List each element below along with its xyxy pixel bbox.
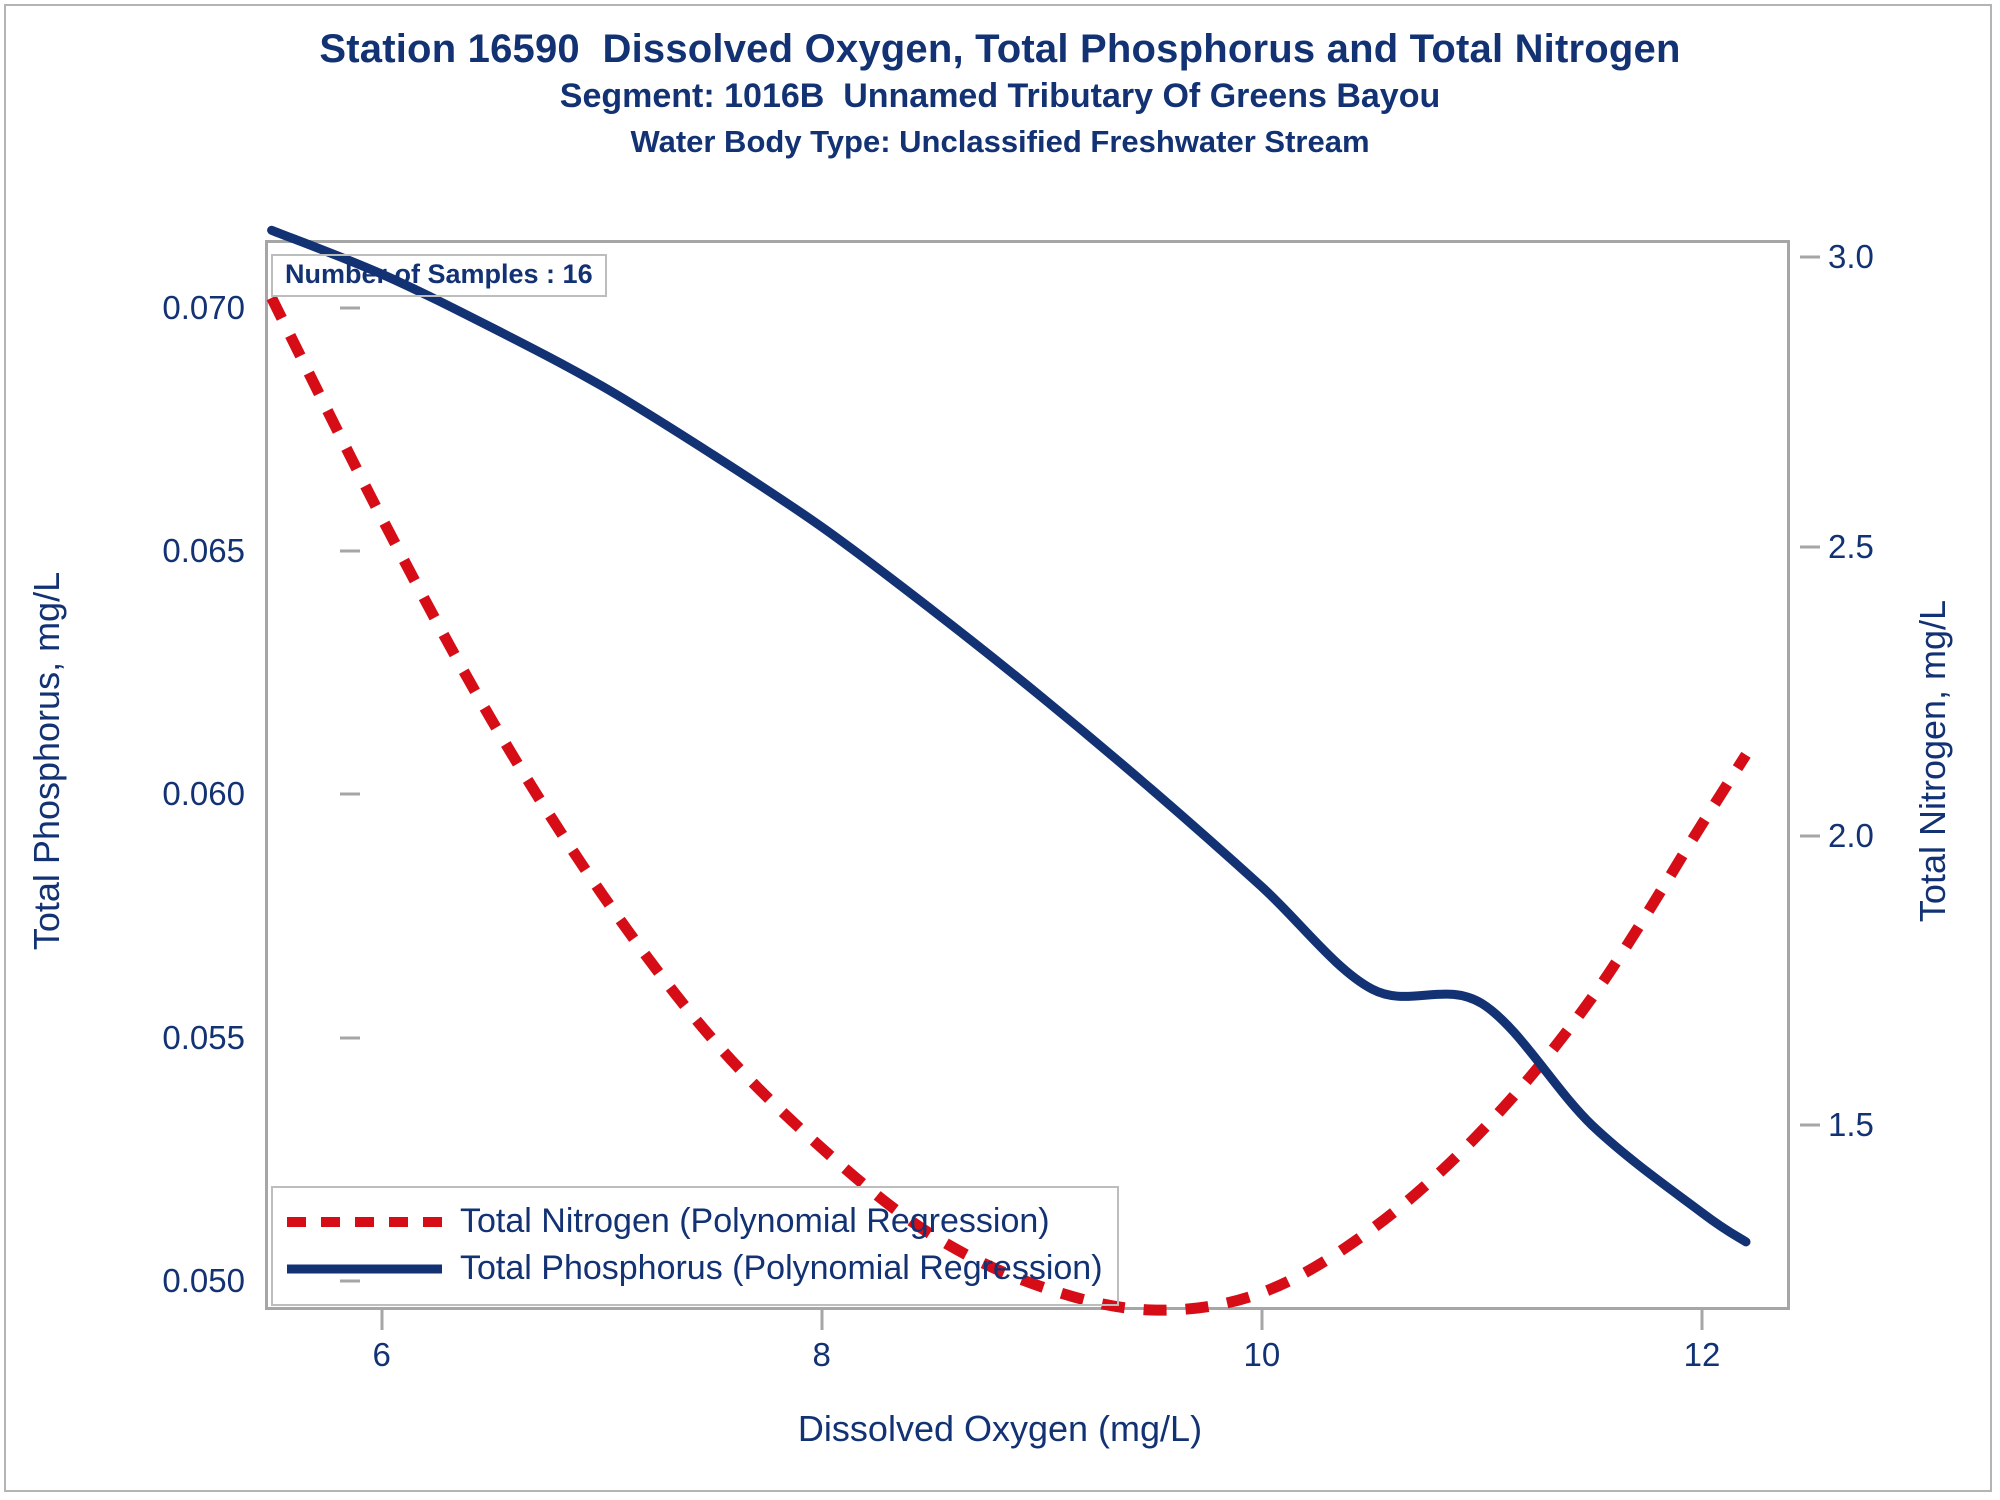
legend-swatch-solid-navy: [287, 1254, 442, 1284]
y-axis-right-tick-label: 1.5: [1828, 1106, 1874, 1144]
y-axis-left-tick-mark: [340, 307, 360, 310]
y-axis-left-tick-label: 0.065: [85, 532, 245, 570]
x-axis-tick-mark: [820, 1310, 823, 1330]
y-axis-right-tick-label: 2.5: [1828, 528, 1874, 566]
y-axis-right-tick-mark: [1800, 1123, 1820, 1126]
series-line-total-nitrogen: [272, 298, 1746, 1310]
plot-wrapper: 0.0500.0550.0600.0650.070 1.52.02.53.0 6…: [0, 0, 2000, 1500]
y-axis-right-tick-mark: [1800, 545, 1820, 548]
x-axis-tick-mark: [1700, 1310, 1703, 1330]
x-axis-title: Dissolved Oxygen (mg/L): [0, 1408, 2000, 1450]
x-axis-tick-label: 10: [1244, 1336, 1281, 1374]
sample-count-annotation: Number of Samples : 16: [271, 254, 607, 297]
y-axis-right-tick-label: 3.0: [1828, 238, 1874, 276]
y-axis-left-tick-mark: [340, 793, 360, 796]
x-axis-tick-label: 6: [372, 1336, 390, 1374]
x-axis-tick-mark: [1260, 1310, 1263, 1330]
legend-item-total-phosphorus: Total Phosphorus (Polynomial Regression): [287, 1245, 1103, 1292]
y-axis-right-tick-mark: [1800, 834, 1820, 837]
x-axis-tick-label: 8: [813, 1336, 831, 1374]
y-axis-right-tick-mark: [1800, 256, 1820, 259]
y-axis-right-ticks: 1.52.02.53.0: [1800, 240, 2000, 1310]
x-axis-ticks: 681012: [265, 1310, 1790, 1390]
x-axis-tick-mark: [380, 1310, 383, 1330]
legend-swatch-dashed-red: [287, 1207, 442, 1237]
sample-count-label: Number of Samples : 16: [285, 259, 593, 289]
series-line-total-phosphorus: [272, 230, 1746, 1242]
y-axis-left-tick-label: 0.055: [85, 1019, 245, 1057]
x-axis-tick-label: 12: [1684, 1336, 1721, 1374]
y-axis-left-tick-label: 0.070: [85, 289, 245, 327]
y-axis-left-ticks: 0.0500.0550.0600.0650.070: [85, 240, 245, 1310]
y-axis-right-tick-label: 2.0: [1828, 817, 1874, 855]
y-axis-left-tick-mark: [340, 550, 360, 553]
legend-label-total-phosphorus: Total Phosphorus (Polynomial Regression): [460, 1249, 1103, 1288]
y-axis-right-title: Total Nitrogen, mg/L: [1912, 491, 1954, 1031]
y-axis-left-tick-label: 0.050: [85, 1262, 245, 1300]
y-axis-left-tick-mark: [340, 1036, 360, 1039]
chart-curves: [265, 240, 1790, 1310]
legend-item-total-nitrogen: Total Nitrogen (Polynomial Regression): [287, 1198, 1103, 1245]
chart-legend: Total Nitrogen (Polynomial Regression) T…: [271, 1186, 1119, 1306]
y-axis-left-tick-label: 0.060: [85, 775, 245, 813]
legend-label-total-nitrogen: Total Nitrogen (Polynomial Regression): [460, 1202, 1050, 1241]
y-axis-left-title: Total Phosphorus, mg/L: [26, 491, 68, 1031]
